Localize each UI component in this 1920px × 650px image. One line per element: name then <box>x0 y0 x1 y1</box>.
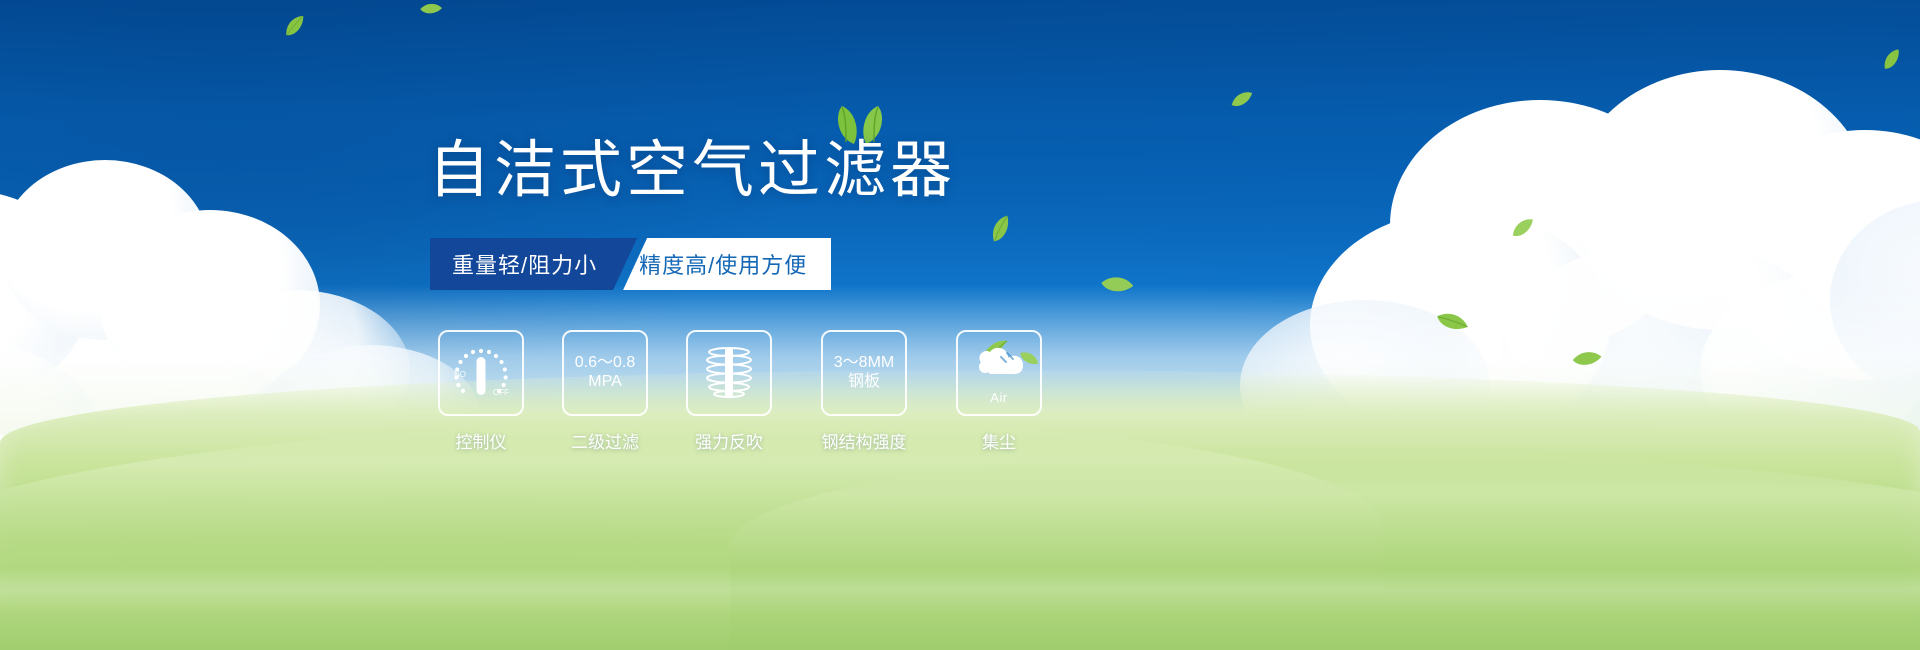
steel-line-1: 3～8MM <box>834 354 894 373</box>
feature-icon-row: NO OFF 控制仪 0.6～0.8 MPA 二级过滤 <box>438 330 1042 453</box>
feature-item-controller[interactable]: NO OFF 控制仪 <box>438 330 524 453</box>
banner-content: 自洁式空气过滤器 重量轻/阻力小 精度高/使用方便 <box>0 0 1920 650</box>
cloud-air-icon-box: Air <box>956 330 1042 416</box>
product-hero-banner: 自洁式空气过滤器 重量轻/阻力小 精度高/使用方便 <box>0 0 1920 650</box>
coil-spring-icon <box>700 343 758 403</box>
feature-item-steel-strength[interactable]: 3～8MM 钢板 钢结构强度 <box>810 330 918 453</box>
pressure-text-icon-box: 0.6～0.8 MPA <box>562 330 648 416</box>
feature-tabs: 重量轻/阻力小 精度高/使用方便 <box>430 238 831 290</box>
steel-plate-text-icon: 3～8MM 钢板 <box>834 354 894 392</box>
svg-text:OFF: OFF <box>493 388 509 397</box>
pressure-line-2: MPA <box>575 373 636 392</box>
coil-spring-icon-box <box>686 330 772 416</box>
pressure-text-icon: 0.6～0.8 MPA <box>575 354 636 392</box>
feature-label: 二级过滤 <box>571 428 639 453</box>
steel-plate-text-icon-box: 3～8MM 钢板 <box>821 330 907 416</box>
svg-text:NO: NO <box>454 370 466 379</box>
gauge-icon: NO OFF <box>448 343 514 403</box>
feature-label: 集尘 <box>982 428 1016 453</box>
pressure-line-1: 0.6～0.8 <box>575 354 636 373</box>
feature-label: 强力反吹 <box>695 428 763 453</box>
steel-line-2: 钢板 <box>834 373 894 392</box>
feature-label: 控制仪 <box>456 428 507 453</box>
tab-weight-resistance[interactable]: 重量轻/阻力小 <box>430 238 637 290</box>
feature-item-strong-blowback[interactable]: 强力反吹 <box>686 330 772 453</box>
feature-label: 钢结构强度 <box>822 428 907 453</box>
tab-precision-convenience[interactable]: 精度高/使用方便 <box>623 238 831 290</box>
feature-item-dust-collection[interactable]: Air 集尘 <box>956 330 1042 453</box>
feature-item-secondary-filter[interactable]: 0.6～0.8 MPA 二级过滤 <box>562 330 648 453</box>
air-label: Air <box>958 390 1040 405</box>
gauge-icon-box: NO OFF <box>438 330 524 416</box>
page-title: 自洁式空气过滤器 <box>428 140 956 202</box>
